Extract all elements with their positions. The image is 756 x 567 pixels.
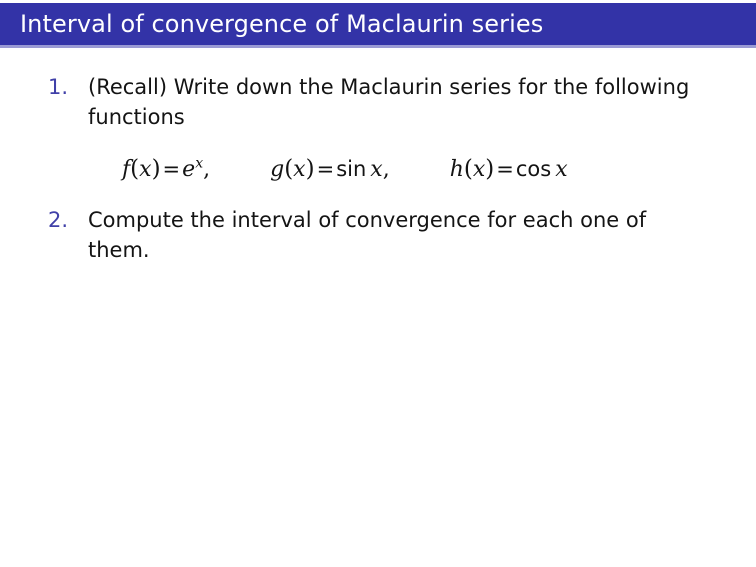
math-expression-g: g(x)=sinx, xyxy=(270,154,390,185)
math-comma-g: , xyxy=(383,157,390,182)
math-base-e: e xyxy=(182,157,195,182)
math-equals-h: = xyxy=(494,157,516,181)
math-display-line: f(x)=ex, g(x)=sinx, h(x)=cosx xyxy=(0,154,756,185)
math-exponent-x: x xyxy=(195,156,203,172)
math-function-name-f: f xyxy=(122,157,130,182)
math-close-paren-h: ) xyxy=(485,156,494,182)
math-expression-f: f(x)=ex, xyxy=(122,154,210,185)
list-item-text: (Recall) Write down the Maclaurin series… xyxy=(88,72,700,132)
math-close-paren-f: ) xyxy=(152,156,161,182)
page-title: Interval of convergence of Maclaurin ser… xyxy=(0,12,543,36)
math-operator-sin: sin xyxy=(336,157,366,181)
math-equals-g: = xyxy=(315,157,337,181)
list-item-marker: 1. xyxy=(0,72,88,102)
math-operand-h: x xyxy=(555,157,567,182)
list-item: 2. Compute the interval of convergence f… xyxy=(0,205,756,265)
slide-content: 1. (Recall) Write down the Maclaurin ser… xyxy=(0,72,756,265)
math-open-paren-h: ( xyxy=(464,156,473,182)
math-argument-f: x xyxy=(139,157,151,182)
list-item: 1. (Recall) Write down the Maclaurin ser… xyxy=(0,72,756,132)
slide-title-bar: Interval of convergence of Maclaurin ser… xyxy=(0,3,756,45)
math-operator-cos: cos xyxy=(516,157,551,181)
math-close-paren-g: ) xyxy=(306,156,315,182)
list-item-text: Compute the interval of convergence for … xyxy=(88,205,700,265)
math-function-name-h: h xyxy=(450,157,464,182)
math-expression-h: h(x)=cosx xyxy=(450,154,568,185)
list-item-marker: 2. xyxy=(0,205,88,235)
math-function-name-g: g xyxy=(270,157,284,182)
math-comma-f: , xyxy=(203,157,210,182)
math-open-paren-g: ( xyxy=(284,156,293,182)
math-open-paren-f: ( xyxy=(130,156,139,182)
math-argument-g: x xyxy=(293,157,305,182)
math-equals-f: = xyxy=(161,157,183,181)
title-bar-underline xyxy=(0,45,756,48)
enumerated-list: 1. (Recall) Write down the Maclaurin ser… xyxy=(0,72,756,265)
math-argument-h: x xyxy=(473,157,485,182)
math-operand-g: x xyxy=(370,157,382,182)
